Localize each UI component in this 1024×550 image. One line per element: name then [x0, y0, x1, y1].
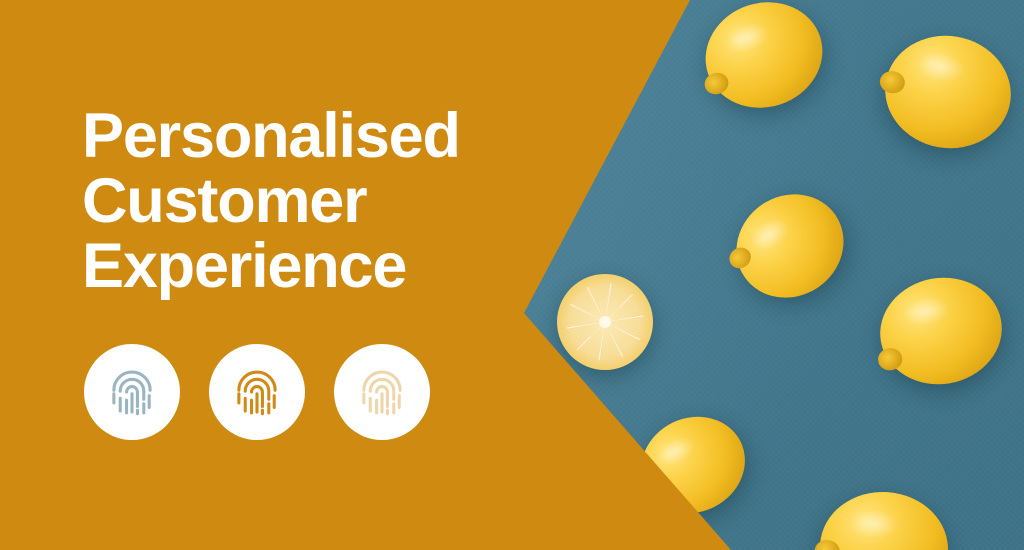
badge-fingerprint-blue[interactable]	[84, 344, 180, 440]
fingerprint-icon	[353, 363, 411, 421]
badge-fingerprint-gold[interactable]	[209, 344, 305, 440]
headline-line-3: Experience	[82, 234, 552, 299]
promo-banner: Personalised Customer Experience	[0, 0, 1024, 550]
headline-line-1: Personalised	[82, 104, 552, 169]
badge-fingerprint-pale[interactable]	[334, 344, 430, 440]
fingerprint-icon	[228, 363, 286, 421]
page-title: Personalised Customer Experience	[82, 104, 552, 299]
fingerprint-icon	[103, 363, 161, 421]
badge-row	[84, 344, 430, 440]
headline-line-2: Customer	[82, 169, 552, 234]
lemon-slice	[557, 274, 653, 370]
